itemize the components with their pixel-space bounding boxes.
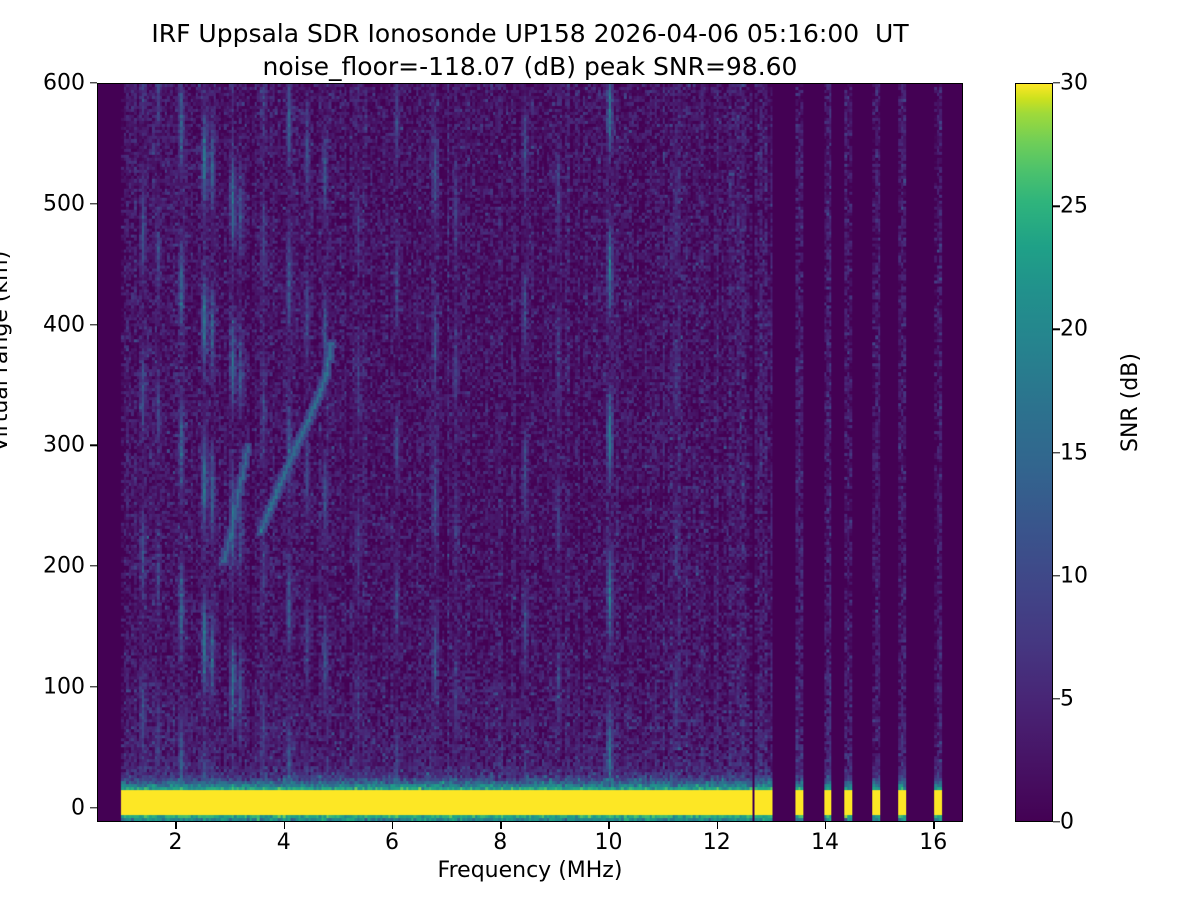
ionogram-plot-area[interactable] <box>97 83 963 822</box>
colorbar-tick-label-0: 0 <box>1060 810 1074 835</box>
y-tick-mark <box>90 686 97 687</box>
ionogram-heatmap-canvas <box>98 84 962 821</box>
colorbar-tick-label-10: 10 <box>1060 563 1088 588</box>
figure-title: IRF Uppsala SDR Ionosonde UP158 2026-04-… <box>0 18 1060 83</box>
colorbar-tick-label-25: 25 <box>1060 194 1088 219</box>
colorbar-tick-mark <box>1053 452 1060 453</box>
x-tick-label-8: 8 <box>440 830 560 855</box>
x-tick-mark <box>717 822 718 829</box>
colorbar-tick-mark <box>1053 82 1060 83</box>
ionogram-figure: IRF Uppsala SDR Ionosonde UP158 2026-04-… <box>0 0 1200 900</box>
x-tick-mark <box>392 822 393 829</box>
colorbar-tick-mark <box>1053 205 1060 206</box>
colorbar-tick-mark <box>1053 575 1060 576</box>
x-tick-label-16: 16 <box>873 830 993 855</box>
snr-colorbar[interactable] <box>1015 83 1053 822</box>
colorbar-tick-label-15: 15 <box>1060 440 1088 465</box>
colorbar-tick-label-20: 20 <box>1060 317 1088 342</box>
colorbar-tick-label-30: 30 <box>1060 71 1088 96</box>
x-tick-mark <box>933 822 934 829</box>
y-tick-label-500: 500 <box>0 191 85 216</box>
y-tick-mark <box>90 82 97 83</box>
title-line-primary: IRF Uppsala SDR Ionosonde UP158 2026-04-… <box>0 18 1060 51</box>
colorbar-tick-mark <box>1053 329 1060 330</box>
colorbar-tick-mark <box>1053 821 1060 822</box>
title-line-secondary: noise_floor=-118.07 (dB) peak SNR=98.60 <box>0 51 1060 84</box>
y-tick-mark <box>90 565 97 566</box>
colorbar-label: SNR (dB) <box>1118 353 1143 452</box>
y-tick-mark <box>90 324 97 325</box>
x-tick-label-14: 14 <box>765 830 885 855</box>
x-tick-mark <box>608 822 609 829</box>
x-axis-label: Frequency (MHz) <box>97 858 963 883</box>
y-tick-label-0: 0 <box>0 795 85 820</box>
y-axis-label: Virtual range (km) <box>0 251 13 452</box>
x-tick-label-4: 4 <box>224 830 344 855</box>
y-tick-mark <box>90 807 97 808</box>
x-tick-label-2: 2 <box>115 830 235 855</box>
x-tick-mark <box>175 822 176 829</box>
x-tick-mark <box>500 822 501 829</box>
colorbar-tick-label-5: 5 <box>1060 686 1074 711</box>
x-tick-label-12: 12 <box>657 830 777 855</box>
colorbar-tick-mark <box>1053 698 1060 699</box>
x-tick-mark <box>825 822 826 829</box>
x-tick-label-10: 10 <box>548 830 668 855</box>
y-tick-mark <box>90 203 97 204</box>
y-tick-label-100: 100 <box>0 674 85 699</box>
y-tick-label-400: 400 <box>0 312 85 337</box>
x-tick-label-6: 6 <box>332 830 452 855</box>
y-tick-label-600: 600 <box>0 71 85 96</box>
x-tick-mark <box>284 822 285 829</box>
y-tick-label-300: 300 <box>0 433 85 458</box>
y-tick-mark <box>90 445 97 446</box>
y-tick-label-200: 200 <box>0 554 85 579</box>
